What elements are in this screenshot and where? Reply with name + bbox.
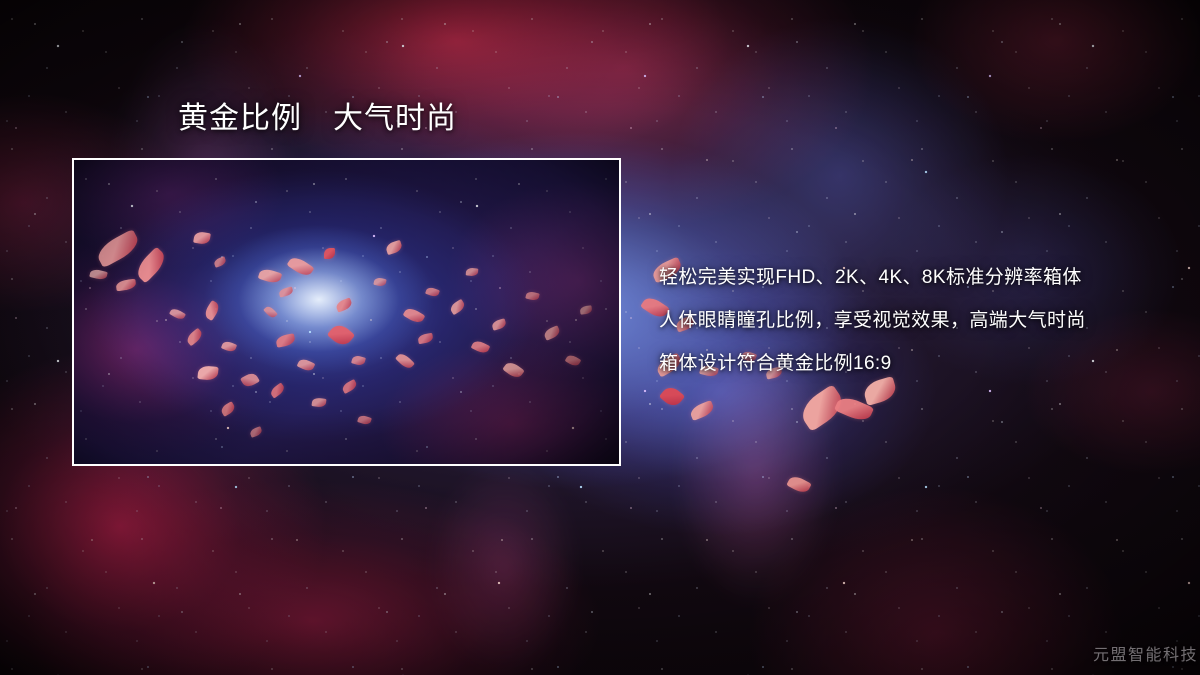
- body-line-3: 箱体设计符合黄金比例16:9: [659, 342, 1139, 385]
- watermark-text: 元盟智能科技: [1093, 641, 1198, 665]
- petal: [834, 393, 874, 424]
- panel-vignette: [74, 160, 619, 464]
- framed-image-panel[interactable]: [72, 158, 621, 466]
- panel-image: [74, 160, 619, 464]
- body-line-2: 人体眼睛瞳孔比例，享受视觉效果，高端大气时尚: [659, 299, 1139, 342]
- slide-canvas: 黄金比例 大气时尚 轻松完美实现FHD、2K、4K、8K标准分辨率箱体 人体眼睛…: [0, 0, 1200, 675]
- body-line-1: 轻松完美实现FHD、2K、4K、8K标准分辨率箱体: [659, 256, 1139, 299]
- page-title: 黄金比例 大气时尚: [178, 101, 457, 137]
- petal: [796, 384, 848, 432]
- petal: [786, 474, 812, 496]
- petal: [688, 400, 715, 421]
- petal: [659, 384, 685, 410]
- body-text-block: 轻松完美实现FHD、2K、4K、8K标准分辨率箱体 人体眼睛瞳孔比例，享受视觉效…: [659, 256, 1139, 385]
